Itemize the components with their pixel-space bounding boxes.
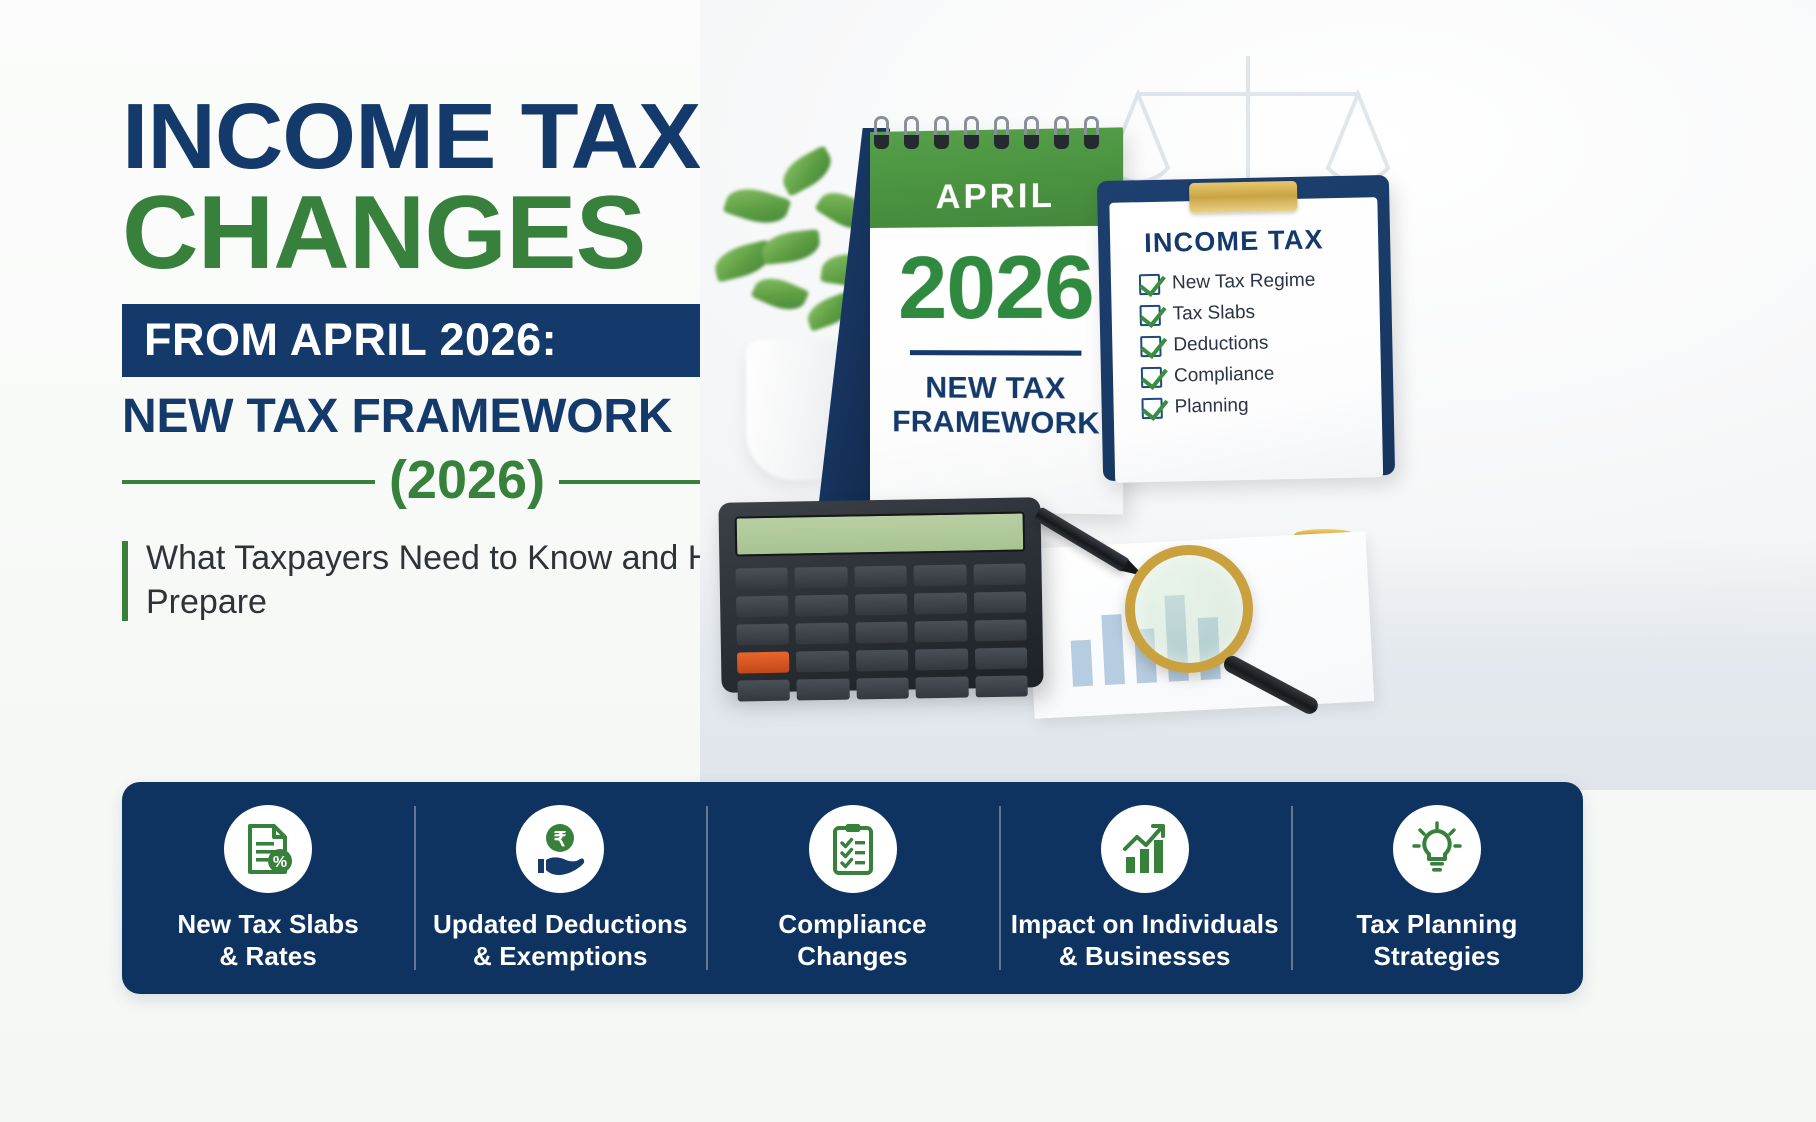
clipboard: INCOME TAX New Tax Regime Tax Slabs Dedu… xyxy=(1097,175,1395,481)
clipboard-item: Tax Slabs xyxy=(1139,299,1367,326)
feature-item-impact[interactable]: Impact on Individuals & Businesses xyxy=(999,782,1291,994)
lightbulb-idea-icon xyxy=(1409,821,1465,877)
feature-item-updated-deductions[interactable]: ₹ Updated Deductions & Exemptions xyxy=(414,782,706,994)
feature-icon-badge: % xyxy=(224,805,312,893)
calendar-divider xyxy=(910,350,1081,356)
clipboard-item-label: New Tax Regime xyxy=(1172,270,1316,295)
feature-icon-badge xyxy=(1393,805,1481,893)
feature-icon-badge xyxy=(809,805,897,893)
feature-label: Updated Deductions & Exemptions xyxy=(433,909,688,972)
clipboard-clip xyxy=(1189,181,1298,213)
bar-chart-growth-icon xyxy=(1117,821,1173,877)
infographic-canvas: INCOME TAX CHANGES FROM APRIL 2026: NEW … xyxy=(0,0,1816,1122)
feature-label: Impact on Individuals & Businesses xyxy=(1011,909,1279,972)
checkbox-checked-icon xyxy=(1141,397,1162,418)
clipboard-checklist-icon xyxy=(825,821,881,877)
checkbox-checked-icon xyxy=(1139,273,1160,294)
feature-bar: % New Tax Slabs & Rates ₹ Updated Deduct… xyxy=(122,782,1583,994)
calendar-month: APRIL xyxy=(936,176,1055,217)
calculator xyxy=(718,497,1043,693)
feature-label: Tax Planning Strategies xyxy=(1356,909,1517,972)
calculator-keypad xyxy=(736,563,1028,701)
calendar-caption: NEW TAX FRAMEWORK xyxy=(870,371,1123,441)
feature-item-compliance-changes[interactable]: Compliance Changes xyxy=(706,782,998,994)
feature-label: Compliance Changes xyxy=(778,909,926,972)
feature-item-new-tax-slabs[interactable]: % New Tax Slabs & Rates xyxy=(122,782,414,994)
headline-year: (2026) xyxy=(389,453,545,511)
hand-rupee-icon: ₹ xyxy=(532,821,588,877)
year-rule-left xyxy=(122,480,375,484)
calendar-spiral-binding xyxy=(870,116,1120,150)
photo-scene: APRIL 2026 NEW TAX FRAMEWORK xyxy=(700,0,1816,790)
feature-label: New Tax Slabs & Rates xyxy=(177,909,358,972)
magnifier-lens xyxy=(1125,545,1253,673)
clipboard-item: New Tax Regime xyxy=(1139,268,1367,295)
checkbox-checked-icon xyxy=(1141,366,1162,387)
clipboard-item-label: Compliance xyxy=(1174,363,1275,387)
document-percent-icon: % xyxy=(240,821,296,877)
clipboard-paper: INCOME TAX New Tax Regime Tax Slabs Dedu… xyxy=(1109,197,1383,483)
headline-band-label: FROM APRIL 2026: xyxy=(144,317,790,362)
magnifying-glass-icon xyxy=(1125,545,1253,673)
checkbox-checked-icon xyxy=(1139,304,1160,325)
clipboard-item-label: Deductions xyxy=(1173,333,1269,357)
calendar-body: 2026 NEW TAX FRAMEWORK xyxy=(870,226,1123,441)
calendar-page: APRIL 2026 NEW TAX FRAMEWORK xyxy=(870,127,1123,514)
clipboard-item: Planning xyxy=(1141,392,1369,419)
desk-calendar: APRIL 2026 NEW TAX FRAMEWORK xyxy=(818,110,1118,510)
svg-text:₹: ₹ xyxy=(554,829,567,851)
svg-text:%: % xyxy=(273,854,287,871)
calendar-year: 2026 xyxy=(870,242,1123,332)
clipboard-item-label: Planning xyxy=(1174,395,1248,419)
clipboard-item: Deductions xyxy=(1140,330,1368,357)
checkbox-checked-icon xyxy=(1140,335,1161,356)
artboard: INCOME TAX CHANGES FROM APRIL 2026: NEW … xyxy=(0,0,1816,1122)
clipboard-item-label: Tax Slabs xyxy=(1172,302,1255,326)
clipboard-item: Compliance xyxy=(1141,361,1369,388)
subtitle-accent-bar xyxy=(122,541,128,621)
feature-icon-badge: ₹ xyxy=(516,805,604,893)
clipboard-title: INCOME TAX xyxy=(1138,223,1367,259)
feature-item-tax-planning[interactable]: Tax Planning Strategies xyxy=(1291,782,1583,994)
feature-icon-badge xyxy=(1101,805,1189,893)
calculator-display xyxy=(735,511,1026,556)
